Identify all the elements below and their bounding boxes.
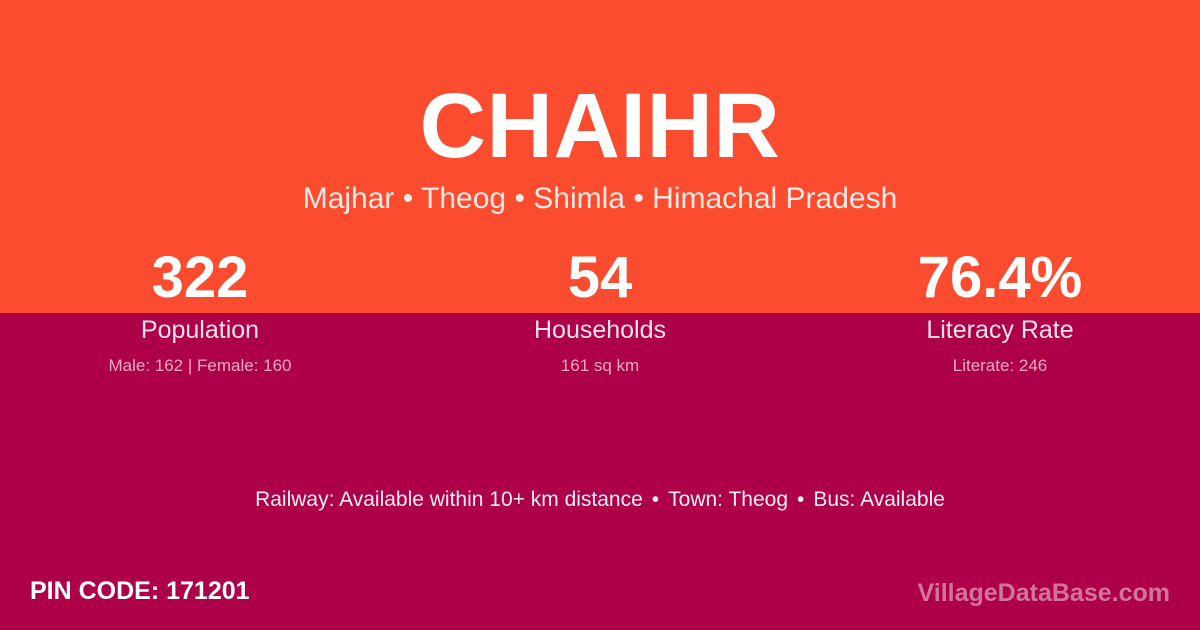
stat-households-label: Households [400, 315, 800, 345]
amenity-separator-icon: • [788, 488, 813, 511]
stat-population-detail: Male: 162 | Female: 160 [0, 355, 400, 377]
amenity-separator-icon: • [643, 488, 668, 511]
pin-code: PIN CODE: 171201 [30, 576, 250, 606]
stats-row: 322 Population Male: 162 | Female: 160 5… [0, 243, 1200, 377]
breadcrumb: Majhar • Theog • Shimla • Himachal Prade… [0, 180, 1200, 218]
stat-literacy-label: Literacy Rate [800, 315, 1200, 345]
stat-literacy-detail: Literate: 246 [800, 355, 1200, 377]
stat-population-value: 322 [0, 243, 400, 313]
stat-literacy: 76.4% Literacy Rate Literate: 246 [800, 243, 1200, 377]
page-title: CHAIHR [0, 78, 1200, 174]
stat-literacy-value: 76.4% [800, 243, 1200, 313]
amenity-town: Town: Theog [668, 488, 788, 511]
stat-households: 54 Households 161 sq km [400, 243, 800, 377]
amenity-railway: Railway: Available within 10+ km distanc… [255, 488, 643, 511]
amenity-bus: Bus: Available [813, 488, 945, 511]
village-info-card: CHAIHR Majhar • Theog • Shimla • Himacha… [0, 0, 1200, 630]
stat-population: 322 Population Male: 162 | Female: 160 [0, 243, 400, 377]
stat-households-detail: 161 sq km [400, 355, 800, 377]
stat-population-label: Population [0, 315, 400, 345]
stat-households-value: 54 [400, 243, 800, 313]
site-brand: VillageDataBase.com [918, 578, 1170, 608]
amenities-line: Railway: Available within 10+ km distanc… [0, 485, 1200, 515]
